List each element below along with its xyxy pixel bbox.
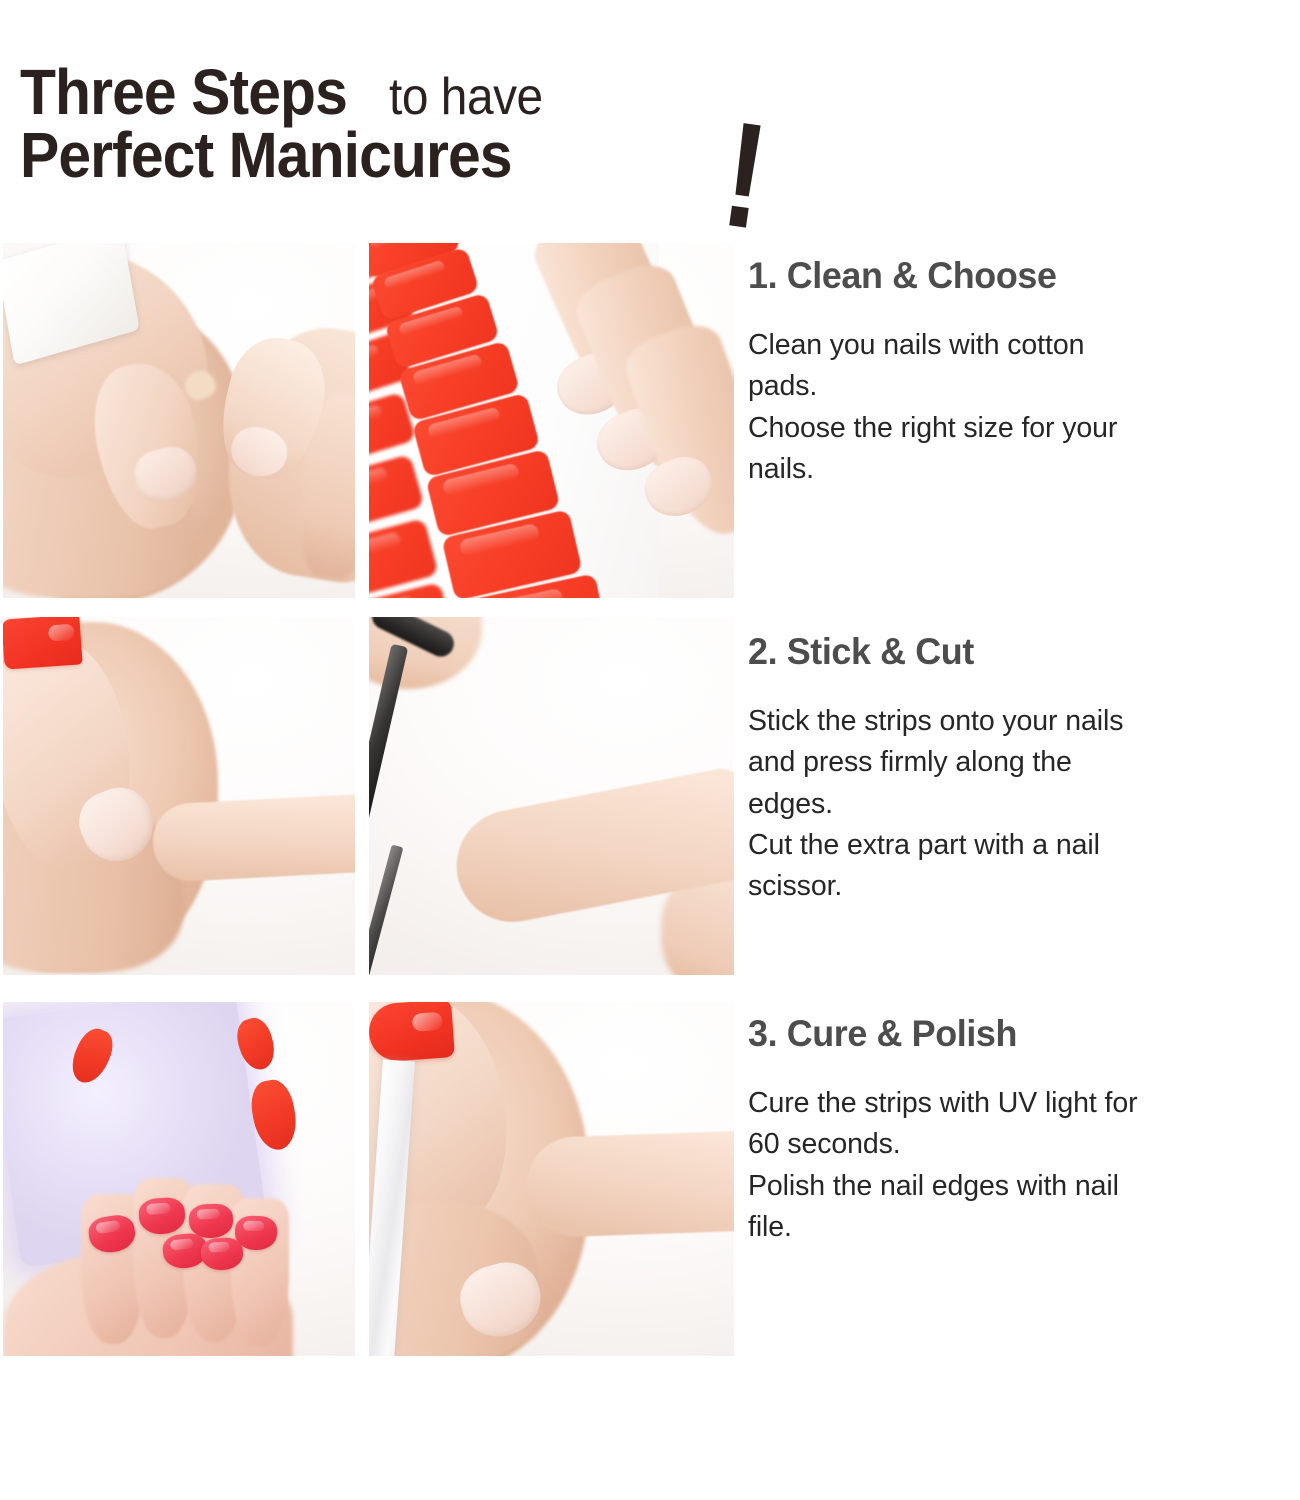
step-2-body: Stick the strips onto your nails and pre… [748,701,1300,908]
uv-lamp-curing-photo [3,1002,355,1356]
step-1-line-4: nails. [748,449,1300,490]
red-nail [369,1002,455,1063]
step-3-block: 3. Cure & Polish Cure the strips with UV… [748,1013,1300,1248]
title-line-2: Perfect Manicures [20,118,554,192]
step-1-line-3: Choose the right size for your [748,408,1300,449]
step-2-line-2: and press firmly along the [748,742,1300,783]
target-finger [151,793,355,883]
step-3-line-4: file. [748,1207,1300,1248]
cotton-pad-cleaning-photo [3,243,355,598]
step-2-line-4: Cut the extra part with a nail [748,825,1300,866]
page-title: Three Stepsto have Perfect Manicures ! [20,55,780,205]
step-2-line-5: scissor. [748,866,1300,907]
target-finger [525,1130,734,1239]
step-2-line-3: edges. [748,784,1300,825]
step-3-heading: 3. Cure & Polish [748,1013,1283,1055]
red-nail-strip [3,617,83,670]
step-2-heading: 2. Stick & Cut [748,631,1283,673]
trim-strip-with-scissor-photo [369,617,734,975]
stick-strip-on-nail-photo [3,617,355,975]
nail-strip-sheet-photo [369,243,734,598]
step-3-line-2: 60 seconds. [748,1124,1300,1165]
step-1-heading: 1. Clean & Choose [748,255,1283,297]
nail-file-polishing-photo [369,1002,734,1356]
step-2-line-1: Stick the strips onto your nails [748,701,1300,742]
step-2-block: 2. Stick & Cut Stick the strips onto you… [748,631,1300,908]
step-1-body: Clean you nails with cotton pads. Choose… [748,325,1300,490]
step-3-line-1: Cure the strips with UV light for [748,1083,1300,1124]
step-1-line-2: pads. [748,366,1300,407]
step-1-line-1: Clean you nails with cotton [748,325,1300,366]
title-strong-2: Perfect Manicures [20,118,512,192]
step-3-line-3: Polish the nail edges with nail [748,1166,1300,1207]
exclamation-mark: ! [717,115,773,236]
step-3-body: Cure the strips with UV light for 60 sec… [748,1083,1300,1248]
step-1-block: 1. Clean & Choose Clean you nails with c… [748,255,1300,490]
